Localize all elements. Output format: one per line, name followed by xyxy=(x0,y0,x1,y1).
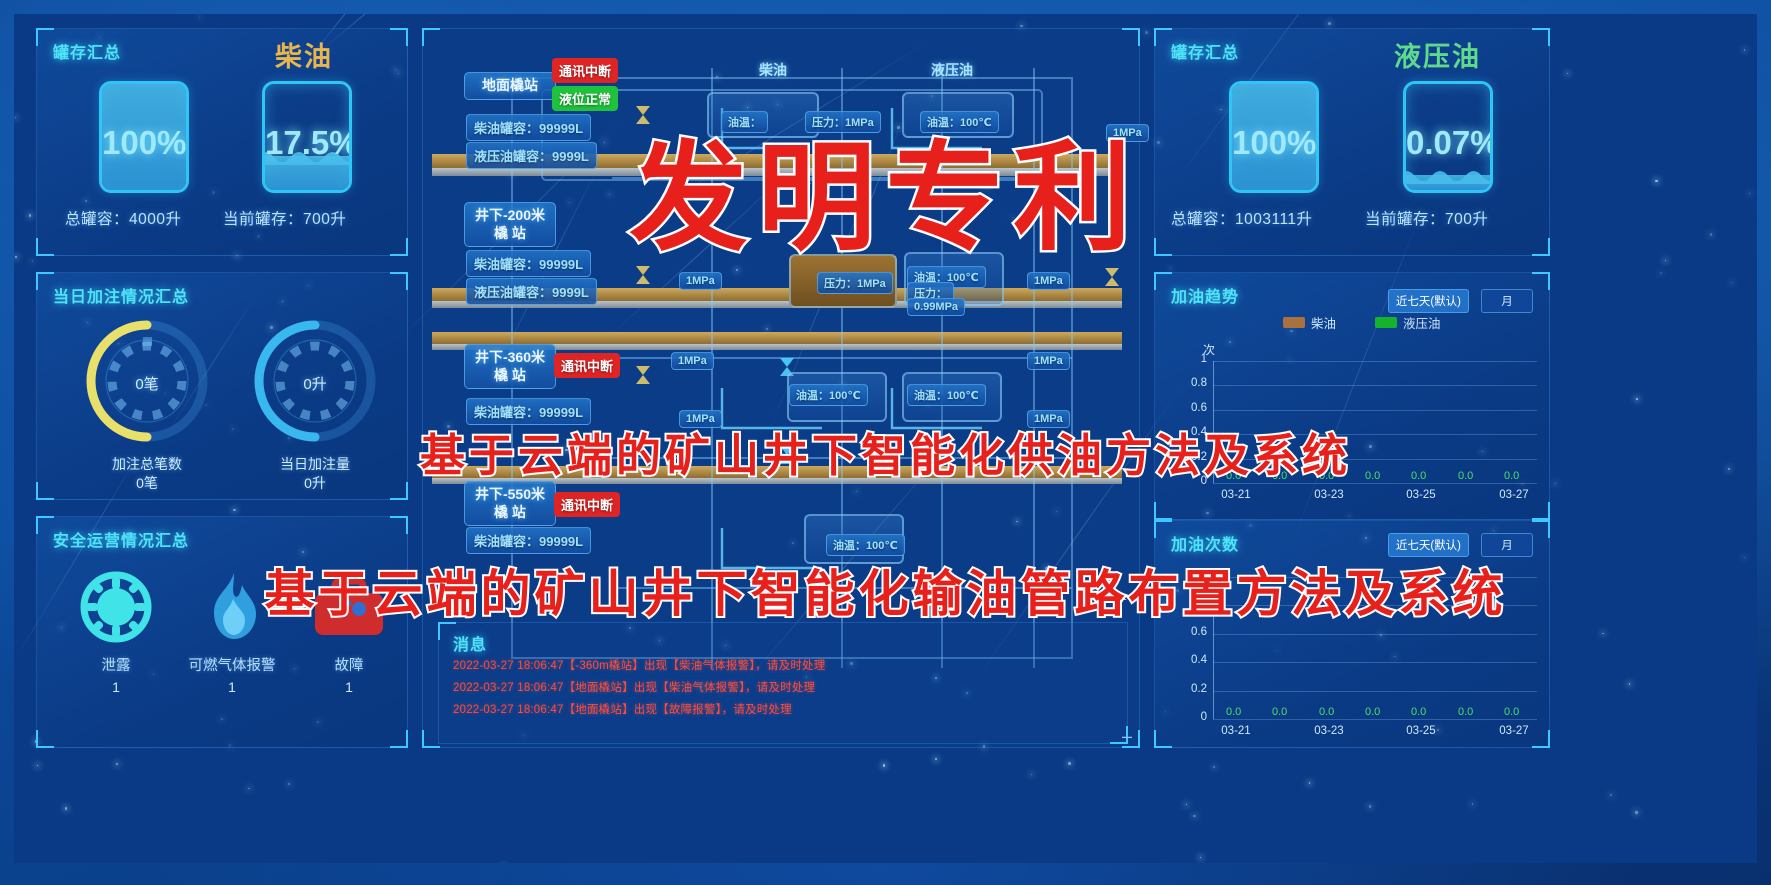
message-item[interactable]: 2022-03-27 18:06:47【地面橇站】出现【柴油气体报警】，请及时处… xyxy=(453,679,815,695)
star-decoration xyxy=(1665,260,1666,261)
corner-decoration xyxy=(1154,520,1172,538)
tank-total-caption: 总罐容：1003111升 xyxy=(1171,207,1313,229)
x-axis-tick: 03-27 xyxy=(1490,489,1538,501)
tank-current-caption: 当前罐存：700升 xyxy=(1365,207,1488,229)
readout-chip: 1MPa xyxy=(1027,272,1070,290)
y-axis-tick: 0.6 xyxy=(1175,402,1207,414)
legend-label: 柴油 xyxy=(1311,313,1336,332)
tank-capacity-hydraulic-surface: 液压油罐容：9999L xyxy=(466,142,597,169)
watermark-line1: 基于云端的矿山井下智能化供油方法及系统 xyxy=(420,419,1351,484)
corner-decoration xyxy=(1532,520,1550,538)
star-decoration xyxy=(1636,398,1638,400)
star-decoration xyxy=(1369,805,1371,807)
star-decoration xyxy=(1555,483,1556,484)
corner-decoration xyxy=(1154,272,1172,290)
corner-decoration xyxy=(36,238,54,256)
star-decoration xyxy=(29,214,31,216)
star-decoration xyxy=(116,763,118,765)
star-decoration xyxy=(1200,857,1201,858)
corner-decoration xyxy=(390,28,408,46)
star-decoration xyxy=(65,807,67,809)
star-decoration xyxy=(288,783,290,785)
star-decoration xyxy=(1213,766,1215,768)
data-point-label: 0.0 xyxy=(1365,470,1380,482)
y-axis-tick: 0.8 xyxy=(1175,377,1207,389)
station-label-360[interactable]: 井下-360米 橇 站 xyxy=(464,344,556,389)
star-decoration xyxy=(1710,233,1712,235)
star-decoration xyxy=(233,509,236,512)
panel-title: 当日加注情况汇总 xyxy=(53,283,189,307)
gauge-label-bottom: 0升 xyxy=(304,475,326,491)
star-decoration xyxy=(32,260,34,262)
panel-daily-refuel-summary: 当日加注情况汇总 0笔 加注总笔数 0笔 xyxy=(36,272,408,500)
y-axis-tick: 0.2 xyxy=(1175,683,1207,695)
star-decoration xyxy=(1602,633,1603,634)
tank-capacity-diesel-550: 柴油罐容：99999L xyxy=(466,527,591,554)
gridline xyxy=(1213,634,1537,635)
data-point-label: 0.0 xyxy=(1319,706,1334,718)
readout-chip: 油温：100℃ xyxy=(826,534,905,556)
star-decoration xyxy=(1170,268,1171,269)
tank-total-hydraulic: 100% xyxy=(1229,81,1319,193)
product-header-hydraulic: 液压油 xyxy=(931,60,973,80)
panel-title: 罐存汇总 xyxy=(1171,39,1239,63)
data-point-label: 0.0 xyxy=(1411,470,1426,482)
star-decoration xyxy=(1744,49,1745,50)
station-label-200[interactable]: 井下-200米 橇 站 xyxy=(464,202,556,247)
star-decoration xyxy=(1068,762,1071,765)
y-axis-tick: 1 xyxy=(1175,353,1207,365)
tank-total-caption: 总罐容：4000升 xyxy=(65,207,181,229)
panel-left-tank-summary: 罐存汇总 柴油 100% 总罐容：4000升 17.5% 当前罐存：700升 xyxy=(36,28,408,256)
readout-chip: 1MPa xyxy=(671,352,714,370)
panel-title: 加油趋势 xyxy=(1171,283,1239,307)
star-decoration xyxy=(1731,282,1732,283)
tank-capacity-diesel-surface: 柴油罐容：99999L xyxy=(466,114,591,141)
legend-item-hydraulic[interactable]: 液压油 xyxy=(1375,313,1441,332)
panel-messages: 消息 2022-03-27 18:06:47【-360m橇站】出现【柴油气体报警… xyxy=(438,622,1128,744)
x-axis-tick: 03-23 xyxy=(1305,489,1353,501)
tank-percent: 100% xyxy=(102,124,186,162)
corner-decoration xyxy=(36,28,54,46)
status-badge-level-surface: 液位正常 xyxy=(552,86,618,111)
star-decoration xyxy=(1660,272,1662,274)
tank-current-caption: 当前罐存：700升 xyxy=(223,207,346,229)
minimize-icon[interactable]: – xyxy=(1122,726,1132,747)
corner-decoration xyxy=(1154,28,1172,46)
legend-label: 液压油 xyxy=(1403,313,1441,332)
product-name-diesel: 柴油 xyxy=(275,35,333,74)
data-point-label: 0.0 xyxy=(1504,706,1519,718)
data-point-label: 0.0 xyxy=(1458,470,1473,482)
message-item[interactable]: 2022-03-27 18:06:47【-360m橇站】出现【柴油气体报警】，请… xyxy=(453,657,825,673)
gauge-label-top: 加注总笔数 xyxy=(112,456,182,472)
gauge-value: 0笔 xyxy=(81,373,213,394)
panel-right-tank-summary: 罐存汇总 液压油 100% 总罐容：1003111升 0.07% 当前罐存：70… xyxy=(1154,28,1550,256)
station-label-surface[interactable]: 地面橇站 xyxy=(464,72,556,100)
product-name-hydraulic: 液压油 xyxy=(1394,35,1481,74)
data-point-label: 0.0 xyxy=(1411,706,1426,718)
message-item[interactable]: 2022-03-27 18:06:47【地面橇站】出现【故障报警】，请及时处理 xyxy=(453,701,792,717)
dashboard-root: 罐存汇总 柴油 100% 总罐容：4000升 17.5% 当前罐存：700升 xyxy=(0,0,1771,885)
gauge-refuel-count: 0笔 xyxy=(81,315,213,447)
panel-title: 加油次数 xyxy=(1171,531,1239,555)
corner-decoration xyxy=(36,482,54,500)
readout-chip: 油温：100℃ xyxy=(907,384,986,406)
chart-refuel-trend[interactable]: 柴油液压油次10.80.60.40.200.00.00.00.00.00.00.… xyxy=(1155,309,1551,521)
tank-fill xyxy=(1406,175,1490,190)
corner-decoration xyxy=(36,516,54,534)
tank-current-hydraulic: 0.07% xyxy=(1403,81,1493,193)
corner-decoration xyxy=(36,730,54,748)
star-decoration xyxy=(1629,683,1630,684)
star-decoration xyxy=(883,764,886,767)
gridline xyxy=(1213,385,1537,386)
tank-percent: 17.5% xyxy=(265,124,349,162)
star-decoration xyxy=(1567,73,1568,74)
readout-chip: 0.99MPa xyxy=(907,298,965,316)
product-header-diesel: 柴油 xyxy=(759,60,787,80)
corner-decoration xyxy=(1532,28,1550,46)
star-decoration xyxy=(1635,811,1638,814)
watermark-main: 发明专利 xyxy=(629,102,1141,273)
y-axis-tick: 0 xyxy=(1175,711,1207,723)
star-decoration xyxy=(1728,468,1730,470)
x-axis-tick: 03-23 xyxy=(1305,725,1353,737)
safety-value: 1 xyxy=(299,679,399,695)
x-axis-tick: 03-21 xyxy=(1212,489,1260,501)
safety-value: 1 xyxy=(167,679,297,695)
tank-capacity-hydraulic-200: 液压油罐容：9999L xyxy=(466,278,597,305)
corner-decoration xyxy=(390,482,408,500)
corner-decoration xyxy=(390,272,408,290)
messages-title: 消息 xyxy=(453,631,487,655)
flame-icon xyxy=(190,565,274,649)
data-point-label: 0.0 xyxy=(1504,470,1519,482)
data-point-label: 0.0 xyxy=(1272,706,1287,718)
corner-decoration xyxy=(36,272,54,290)
corner-decoration xyxy=(1532,238,1550,256)
gridline xyxy=(1213,691,1537,692)
gauge-label-volume: 当日加注量 0升 xyxy=(249,455,381,493)
watermark-line2: 基于云端的矿山井下智能化输油管路布置方法及系统 xyxy=(265,554,1507,626)
star-decoration xyxy=(1031,774,1033,776)
tank-capacity-diesel-200: 柴油罐容：99999L xyxy=(466,250,591,277)
status-badge-comm-550: 通讯中断 xyxy=(554,492,620,517)
star-decoration xyxy=(248,788,250,790)
data-point-label: 0.0 xyxy=(1458,706,1473,718)
gridline xyxy=(1213,662,1537,663)
safety-label: 泄露 xyxy=(61,654,171,675)
corner-decoration xyxy=(390,730,408,748)
gridline xyxy=(1213,410,1537,411)
readout-chip: 压力：1MPa xyxy=(817,272,893,294)
gauge-label-bottom: 0笔 xyxy=(136,475,158,491)
x-axis-tick: 03-25 xyxy=(1397,725,1445,737)
tank-percent: 100% xyxy=(1232,124,1316,162)
safety-item-leak[interactable]: 泄露 1 xyxy=(61,565,171,695)
legend-swatch xyxy=(1375,317,1397,328)
corner-decoration xyxy=(390,516,408,534)
gauge-refuel-volume: 0升 xyxy=(249,315,381,447)
y-axis-tick: 0.6 xyxy=(1175,626,1207,638)
star-decoration xyxy=(1020,25,1022,27)
virus-gear-icon xyxy=(74,565,158,649)
star-decoration xyxy=(1610,794,1612,796)
station-label-550[interactable]: 井下-550米 橇 站 xyxy=(464,481,556,526)
gauge-label-top: 当日加注量 xyxy=(280,456,350,472)
x-axis-tick: 03-21 xyxy=(1212,725,1260,737)
star-decoration xyxy=(15,256,17,258)
status-badge-comm-360: 通讯中断 xyxy=(554,353,620,378)
tank-current-diesel: 17.5% xyxy=(262,81,352,193)
star-decoration xyxy=(37,765,38,766)
corner-decoration xyxy=(390,238,408,256)
corner-decoration xyxy=(1154,238,1172,256)
legend-item-diesel[interactable]: 柴油 xyxy=(1283,313,1336,332)
star-decoration xyxy=(1193,815,1196,818)
panel-safety-summary: 安全运营情况汇总 泄露 xyxy=(36,516,408,748)
tank-percent: 0.07% xyxy=(1406,124,1490,162)
star-decoration xyxy=(15,117,16,118)
star-decoration xyxy=(1328,22,1331,25)
x-axis-tick: 03-25 xyxy=(1397,489,1445,501)
dashboard-stage: 罐存汇总 柴油 100% 总罐容：4000升 17.5% 当前罐存：700升 xyxy=(14,14,1757,863)
status-badge-comm-surface: 通讯中断 xyxy=(552,58,618,83)
gauge-label-count: 加注总笔数 0笔 xyxy=(81,455,213,493)
star-decoration xyxy=(199,17,200,18)
corner-decoration xyxy=(1532,272,1550,290)
y-axis-tick: 0.4 xyxy=(1175,654,1207,666)
tank-total-diesel: 100% xyxy=(99,81,189,193)
star-decoration xyxy=(1749,193,1750,194)
star-decoration xyxy=(1655,180,1658,183)
legend-swatch xyxy=(1283,317,1305,328)
safety-label: 可燃气体报警 xyxy=(167,654,297,675)
data-point-label: 0.0 xyxy=(1365,706,1380,718)
readout-chip: 1MPa xyxy=(1027,352,1070,370)
gridline xyxy=(1213,719,1537,720)
panel-title: 罐存汇总 xyxy=(53,39,121,63)
star-decoration xyxy=(1145,31,1148,34)
readout-chip: 1MPa xyxy=(679,272,722,290)
star-decoration xyxy=(1309,782,1310,783)
star-decoration xyxy=(1472,803,1473,804)
x-axis-tick: 03-27 xyxy=(1490,725,1538,737)
gridline xyxy=(1213,361,1537,362)
data-point-label: 0.0 xyxy=(1226,706,1241,718)
star-decoration xyxy=(1744,557,1745,558)
gauge-value: 0升 xyxy=(249,373,381,394)
star-decoration xyxy=(935,758,937,760)
safety-value: 1 xyxy=(61,679,171,695)
panel-title: 安全运营情况汇总 xyxy=(53,527,189,551)
wave-icon xyxy=(1403,166,1493,184)
readout-chip: 油温：100℃ xyxy=(789,384,868,406)
star-decoration xyxy=(1186,804,1187,805)
safety-label: 故障 xyxy=(299,654,399,675)
